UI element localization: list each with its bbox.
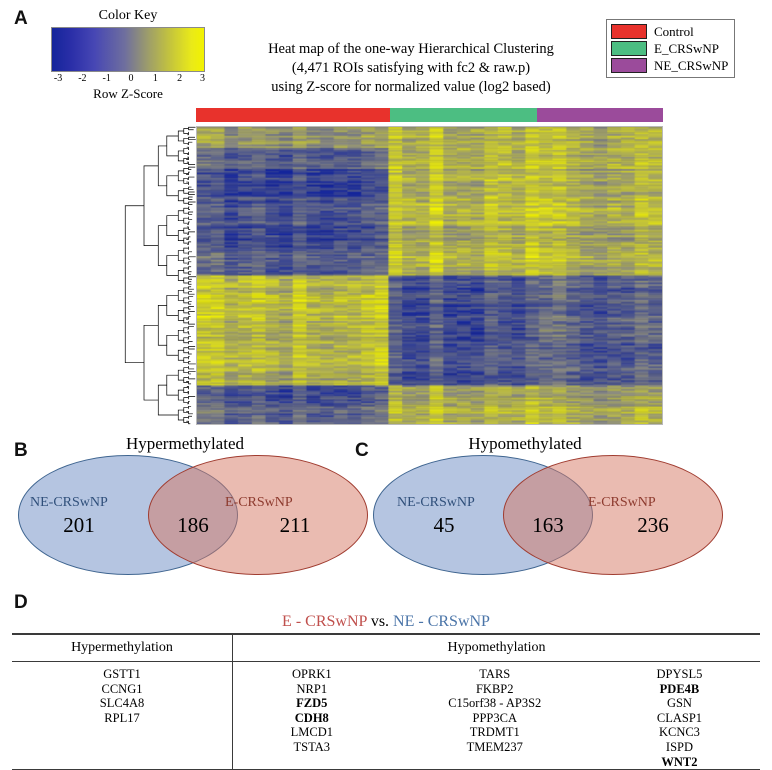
hypomethylation-gene-list-1: OPRK1NRP1FZD5CDH8LMCD1TSTA3 — [291, 667, 333, 769]
venn-c-right-value: 236 — [618, 513, 688, 538]
gene-name: LMCD1 — [291, 725, 333, 740]
venn-b-left-value: 201 — [44, 513, 114, 538]
gene-name: GSTT1 — [12, 667, 232, 682]
gene-name: OPRK1 — [291, 667, 333, 682]
heatmap-title: Heat map of the one-way Hierarchical Clu… — [232, 40, 590, 97]
table-header-row: Hypermethylation Hypomethylation — [12, 635, 760, 661]
hypomethylation-gene-list-3: DPYSL5PDE4BGSNCLASP1KCNC3ISPDWNT2 — [657, 667, 703, 769]
color-key-tick: 1 — [153, 73, 158, 84]
gene-name: TARS — [448, 667, 541, 682]
legend-label-control: Control — [654, 25, 694, 38]
gene-name: RPL17 — [12, 711, 232, 726]
heatmap-title-line3: using Z-score for normalized value (log2… — [232, 78, 590, 97]
gene-name: TSTA3 — [291, 740, 333, 755]
venn-c-right-label: E-CRSwNP — [588, 495, 656, 511]
gene-name: ISPD — [657, 740, 703, 755]
gene-name: NRP1 — [291, 682, 333, 697]
heatmap-title-line1: Heat map of the one-way Hierarchical Clu… — [232, 40, 590, 59]
legend-swatch-ne-crswnp — [611, 58, 647, 73]
color-key-tick: -2 — [78, 73, 86, 84]
gene-table-heading: E - CRSwNP vs. NE - CRSwNP — [12, 613, 760, 631]
hypermethylation-gene-cell: GSTT1CCNG1SLC4A8RPL17 — [12, 662, 232, 769]
legend-swatch-control — [611, 24, 647, 39]
gene-name: GSN — [657, 696, 703, 711]
heading-ne-crswnp: NE - CRSwNP — [393, 613, 490, 630]
heatmap-group-color-bar — [196, 108, 663, 122]
venn-c-left-label: NE-CRSwNP — [397, 495, 475, 511]
gene-table: E - CRSwNP vs. NE - CRSwNP Hypermethylat… — [12, 613, 760, 770]
legend-label-e-crswnp: E_CRSwNP — [654, 42, 719, 55]
panel-letter-a: A — [14, 8, 28, 30]
color-key-tick: -3 — [54, 73, 62, 84]
group-legend: Control E_CRSwNP NE_CRSwNP — [606, 19, 735, 78]
venn-b-right-value: 211 — [260, 513, 330, 538]
gene-name: CCNG1 — [12, 682, 232, 697]
color-key-tick: 0 — [129, 73, 134, 84]
gene-name: SLC4A8 — [12, 696, 232, 711]
heading-vs: vs. — [371, 613, 389, 630]
color-key-tick: 3 — [200, 73, 205, 84]
gene-name: C15orf38 - AP3S2 — [448, 696, 541, 711]
gene-name: DPYSL5 — [657, 667, 703, 682]
venn-b-left-label: NE-CRSwNP — [30, 495, 108, 511]
gene-name: FKBP2 — [448, 682, 541, 697]
heatmap-title-line2: (4,471 ROIs satisfying with fc2 & raw.p) — [232, 59, 590, 78]
legend-swatch-e-crswnp — [611, 41, 647, 56]
legend-label-ne-crswnp: NE_CRSwNP — [654, 59, 728, 72]
color-key-ticks: -3 -2 -1 0 1 2 3 — [52, 73, 204, 86]
color-key-axis-label: Row Z-Score — [48, 86, 208, 102]
color-key-tick: 2 — [177, 73, 182, 84]
color-key-gradient — [51, 27, 205, 72]
panel-letter-c: C — [355, 440, 369, 462]
gene-name: CLASP1 — [657, 711, 703, 726]
venn-c-left-value: 45 — [409, 513, 479, 538]
group-bar-control — [196, 108, 390, 122]
column-header-hypomethylation: Hypomethylation — [233, 635, 760, 661]
gene-name: FZD5 — [291, 696, 333, 711]
color-key-tick: -1 — [103, 73, 111, 84]
gene-name: PPP3CA — [448, 711, 541, 726]
gene-name: CDH8 — [291, 711, 333, 726]
column-header-hypermethylation: Hypermethylation — [12, 635, 232, 661]
venn-c-overlap-value: 163 — [513, 513, 583, 538]
gene-name: WNT2 — [657, 755, 703, 770]
group-bar-e-crswnp — [390, 108, 537, 122]
legend-item-control: Control — [611, 23, 728, 40]
heatmap-image — [196, 126, 663, 425]
gene-name: TMEM237 — [448, 740, 541, 755]
gene-name: KCNC3 — [657, 725, 703, 740]
row-dendrogram — [37, 126, 196, 425]
table-body-row: GSTT1CCNG1SLC4A8RPL17 OPRK1NRP1FZD5CDH8L… — [12, 662, 760, 769]
gene-name: TRDMT1 — [448, 725, 541, 740]
color-key: Color Key -3 -2 -1 0 1 2 3 Row Z-Score — [48, 8, 208, 102]
color-key-title: Color Key — [48, 8, 208, 24]
venn-b: NE-CRSwNP E-CRSwNP 201 186 211 — [18, 455, 368, 575]
venn-c: NE-CRSwNP E-CRSwNP 45 163 236 — [373, 455, 723, 575]
hypomethylation-gene-cell: OPRK1NRP1FZD5CDH8LMCD1TSTA3 TARSFKBP2C15… — [233, 662, 760, 769]
heading-e-crswnp: E - CRSwNP — [282, 613, 367, 630]
gene-name: PDE4B — [657, 682, 703, 697]
legend-item-e-crswnp: E_CRSwNP — [611, 40, 728, 57]
legend-item-ne-crswnp: NE_CRSwNP — [611, 57, 728, 74]
hypomethylation-gene-list-2: TARSFKBP2C15orf38 - AP3S2PPP3CATRDMT1TME… — [448, 667, 541, 769]
group-bar-ne-crswnp — [537, 108, 663, 122]
panel-letter-d: D — [14, 592, 28, 614]
venn-b-title: Hypermethylated — [60, 434, 310, 454]
venn-b-right-label: E-CRSwNP — [225, 495, 293, 511]
venn-b-overlap-value: 186 — [158, 513, 228, 538]
heatmap-panel — [37, 108, 663, 425]
venn-c-title: Hypomethylated — [400, 434, 650, 454]
hypermethylation-gene-list: GSTT1CCNG1SLC4A8RPL17 — [12, 662, 232, 725]
